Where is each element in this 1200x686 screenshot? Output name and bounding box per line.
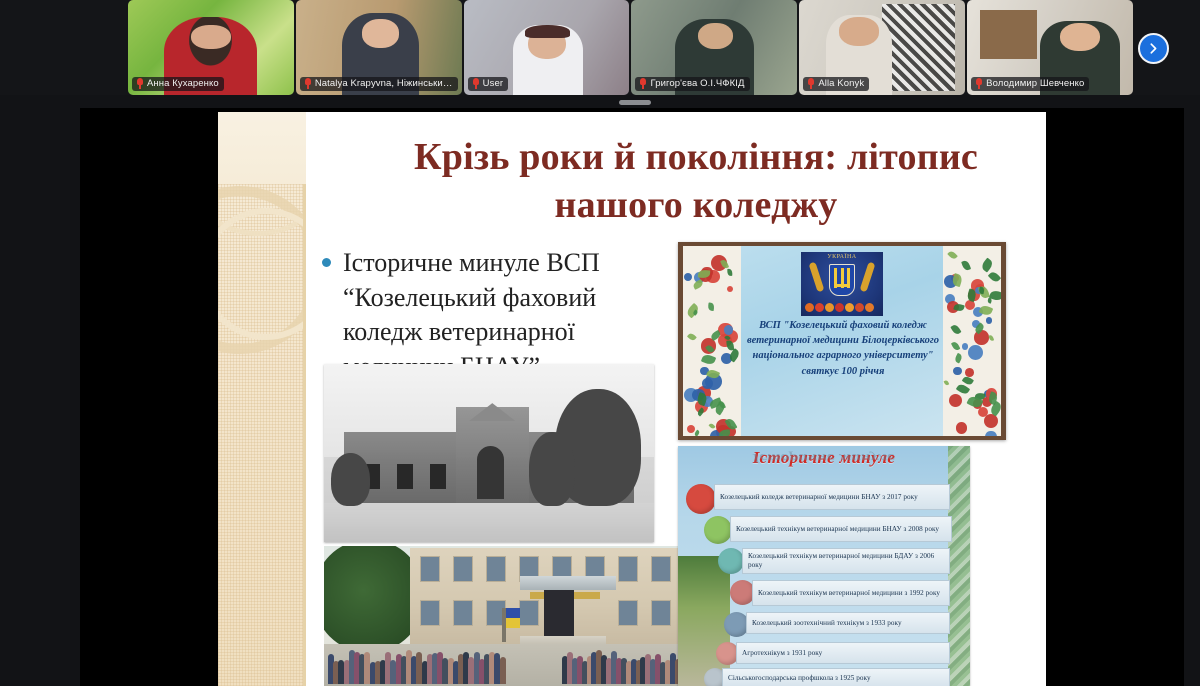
embroidery-flower xyxy=(962,343,968,349)
mic-muted-icon xyxy=(304,78,312,89)
timeline-entry: Сільськогосподарська профшкола з 1925 ро… xyxy=(722,668,950,686)
embroidery-leaf xyxy=(951,324,962,336)
embroidery-border-right xyxy=(943,246,1001,436)
embroidery-leaf xyxy=(961,259,971,271)
embroidery-leaf xyxy=(700,353,716,366)
participant-name: Григор'єва О.І.ЧФКІД xyxy=(650,78,744,89)
timeline-entry: Агротехнікум з 1931 року xyxy=(736,642,950,664)
decorative-leaf-border xyxy=(948,446,970,686)
embroidery-leaf xyxy=(727,269,732,276)
conference-presentation-window: Анна Кухаренко Natalya Krapyvna, Ніжинсь… xyxy=(0,0,1200,686)
mic-muted-icon xyxy=(807,78,815,89)
embroidery-flower xyxy=(986,317,993,324)
emblem-flower xyxy=(835,303,844,312)
embroidery-leaf xyxy=(692,279,704,290)
embroidery-flower xyxy=(949,394,962,407)
timeline-entry: Козелецький технікум ветеринарної медици… xyxy=(730,516,952,542)
timeline-entry-label: Сільськогосподарська профшкола з 1925 ро… xyxy=(728,674,871,683)
emblem-flower xyxy=(815,303,824,312)
participant-tiles: Анна Кухаренко Natalya Krapyvna, Ніжинсь… xyxy=(128,0,1133,95)
chevron-right-icon xyxy=(1147,42,1160,55)
banner-canvas: УКРАЇНА ВСП "Козелецький фаховий коледж … xyxy=(683,246,1001,436)
embroidery-leaf xyxy=(953,353,963,364)
photo-window xyxy=(651,600,671,626)
wheat-icon xyxy=(809,262,825,293)
emblem-flower xyxy=(825,303,834,312)
filmstrip-base xyxy=(0,95,1200,108)
decorative-arc xyxy=(218,208,306,340)
timeline-dot xyxy=(686,484,716,514)
mic-muted-icon xyxy=(639,78,647,89)
embroidery-flower xyxy=(687,425,695,433)
participant-tile[interactable]: Володимир Шевченко xyxy=(967,0,1133,95)
embroidery-leaf xyxy=(709,423,716,430)
photo-window xyxy=(430,464,447,489)
embroidery-leaf xyxy=(980,258,995,273)
participant-name: User xyxy=(483,78,503,89)
photo-window xyxy=(420,556,440,582)
timeline-entry-label: Козелецький коледж ветеринарної медицини… xyxy=(720,493,918,502)
photo-window xyxy=(618,556,638,582)
participant-name: Alla Konyk xyxy=(818,78,864,89)
timeline-entry-label: Агротехнікум з 1931 року xyxy=(742,649,822,658)
photo-window xyxy=(486,556,506,582)
participant-name-badge: Alla Konyk xyxy=(803,77,869,91)
participant-name: Natalya Krapyvna, Ніжинський Ф... xyxy=(315,78,453,89)
photo-entrance xyxy=(544,590,574,636)
embroidery-flower xyxy=(968,345,983,360)
embroidery-leaf xyxy=(707,302,714,311)
photo-tree xyxy=(529,432,575,507)
embroidery-leaf xyxy=(988,270,1001,283)
next-page-button[interactable] xyxy=(1138,33,1169,64)
embroidery-border-left xyxy=(683,246,741,436)
participant-tile[interactable]: User xyxy=(464,0,630,95)
timeline-entry-label: Козелецький технікум ветеринарної медици… xyxy=(758,589,940,598)
timeline-entry: Козелецький зоотехнічний технікум з 1933… xyxy=(746,612,950,634)
embroidery-flower xyxy=(985,431,996,436)
timeline-heading-reflection: Історичне минуле xyxy=(678,450,970,465)
wheat-icon xyxy=(860,262,876,293)
ukraine-coat-of-arms-icon: УКРАЇНА xyxy=(801,252,883,316)
emblem-caption: УКРАЇНА xyxy=(801,254,883,260)
photo-ground xyxy=(324,503,654,542)
participant-name-badge: Natalya Krapyvna, Ніжинський Ф... xyxy=(300,77,458,91)
participant-tile[interactable]: Анна Кухаренко xyxy=(128,0,294,95)
filmstrip-drag-handle[interactable] xyxy=(619,100,651,105)
mic-muted-icon xyxy=(472,78,480,89)
timeline-entry: Козелецький коледж ветеринарної медицини… xyxy=(714,484,950,510)
photo-window xyxy=(453,600,473,626)
participant-name-badge: Анна Кухаренко xyxy=(132,77,224,91)
photo-window xyxy=(420,600,440,626)
timeline-entry-label: Козелецький зоотехнічний технікум з 1933… xyxy=(752,619,902,628)
presentation-slide: Крізь роки й покоління: літопис нашого к… xyxy=(218,112,1046,686)
emblem-flower xyxy=(845,303,854,312)
photo-window xyxy=(453,556,473,582)
presentation-stage[interactable]: Крізь роки й покоління: літопис нашого к… xyxy=(80,108,1184,686)
timeline-dot xyxy=(718,548,744,574)
photo-window xyxy=(618,600,638,626)
participant-name: Анна Кухаренко xyxy=(147,78,219,89)
emblem-flower xyxy=(855,303,864,312)
embroidery-flower xyxy=(684,273,692,281)
timeline-entry-label: Козелецький технікум ветеринарної медици… xyxy=(748,552,944,570)
timeline-entry-label: Козелецький технікум ветеринарної медици… xyxy=(736,525,939,534)
bullet-dot-icon xyxy=(322,258,331,267)
banner-text: ВСП "Козелецький фаховий коледж ветерина… xyxy=(745,318,941,379)
mic-muted-icon xyxy=(975,78,983,89)
embroidery-flower xyxy=(727,286,733,292)
historical-timeline-infographic: Історичне минуле Історичне минуле Козеле… xyxy=(678,446,970,686)
embroidery-flower xyxy=(956,422,967,433)
slide-title: Крізь роки й покоління: літопис нашого к… xyxy=(346,134,1046,230)
emblem-flower xyxy=(805,303,814,312)
embroidery-leaf xyxy=(944,379,950,385)
embroidery-flower xyxy=(702,378,713,389)
embroidery-flower xyxy=(984,414,998,428)
trident-icon xyxy=(834,268,850,288)
photo-entrance xyxy=(477,446,503,499)
embroidery-flower xyxy=(724,325,734,335)
slide-decorative-sidebar xyxy=(218,112,306,686)
photo-tree xyxy=(331,453,371,506)
embroidery-flower xyxy=(953,367,962,376)
embroidered-banner-photo: УКРАЇНА ВСП "Козелецький фаховий коледж … xyxy=(678,242,1006,440)
timeline-entry: Козелецький технікум ветеринарної медици… xyxy=(752,580,950,606)
photo-person xyxy=(500,657,506,684)
participant-tile[interactable]: Alla Konyk xyxy=(799,0,965,95)
participant-name: Володимир Шевченко xyxy=(986,78,1084,89)
slide-content: Крізь роки й покоління: літопис нашого к… xyxy=(306,112,1046,686)
flower-garland-icon xyxy=(805,294,879,314)
embroidery-leaf xyxy=(719,430,731,436)
embroidery-leaf xyxy=(948,250,959,261)
embroidery-leaf xyxy=(687,332,697,342)
photo-canopy xyxy=(520,576,616,590)
embroidery-leaf xyxy=(951,340,961,351)
participant-tile[interactable]: Natalya Krapyvna, Ніжинський Ф... xyxy=(296,0,462,95)
emblem-flower xyxy=(865,303,874,312)
participant-tile[interactable]: Григор'єва О.І.ЧФКІД xyxy=(631,0,797,95)
ukraine-flag-icon xyxy=(506,608,520,628)
photo-window xyxy=(519,600,539,626)
photo-window xyxy=(397,464,414,489)
photo-window xyxy=(651,556,671,582)
timeline-photo-inset xyxy=(678,556,730,686)
participant-name-badge: User xyxy=(468,77,508,91)
mic-muted-icon xyxy=(136,78,144,89)
participant-filmstrip: Анна Кухаренко Natalya Krapyvna, Ніжинсь… xyxy=(0,0,1200,102)
embroidery-leaf xyxy=(988,334,994,341)
timeline-entry: Козелецький технікум ветеринарної медици… xyxy=(742,548,950,574)
participant-name-badge: Григор'єва О.І.ЧФКІД xyxy=(635,77,749,91)
historic-college-building-photo xyxy=(324,364,654,542)
timeline-dot xyxy=(704,516,732,544)
participant-name-badge: Володимир Шевченко xyxy=(971,77,1089,91)
embroidery-leaf xyxy=(726,340,734,351)
